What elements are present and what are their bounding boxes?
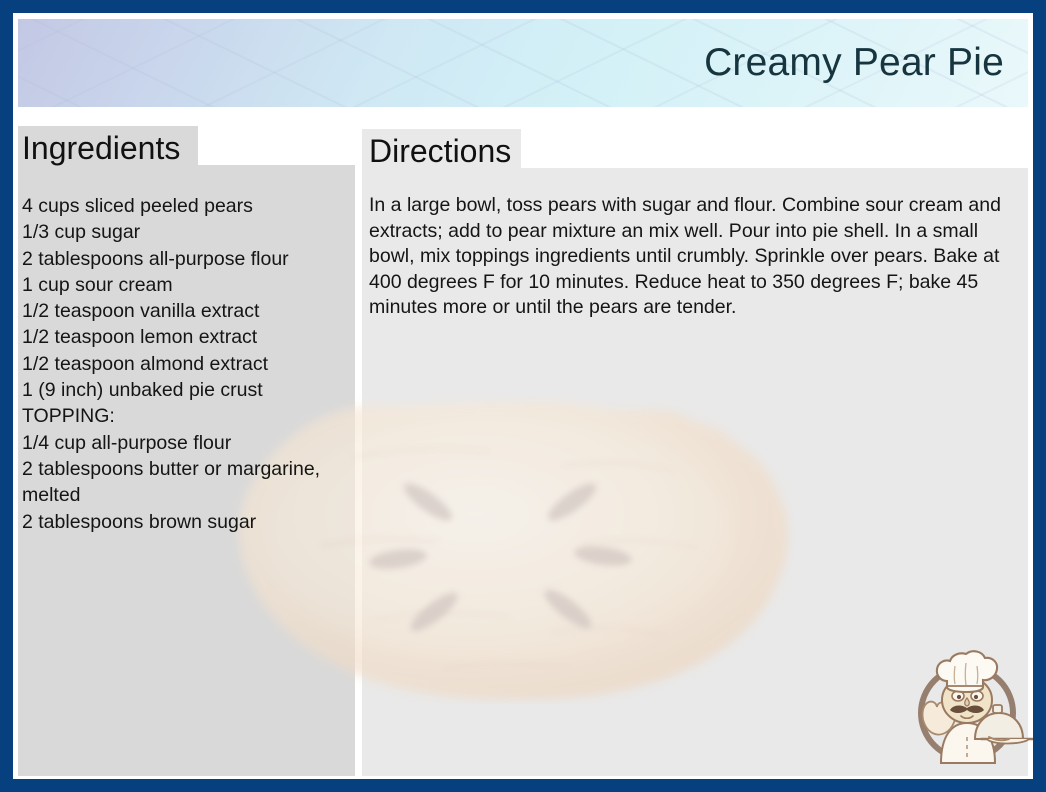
list-item: 2 tablespoons brown sugar xyxy=(22,509,352,535)
ingredients-heading: Ingredients xyxy=(22,130,180,167)
list-item: 1/2 teaspoon lemon extract xyxy=(22,324,352,350)
page-title: Creamy Pear Pie xyxy=(704,41,1004,85)
list-item: 1/3 cup sugar xyxy=(22,219,352,245)
list-item: TOPPING: xyxy=(22,403,352,429)
list-item: 1 (9 inch) unbaked pie crust xyxy=(22,377,352,403)
list-item: 1/4 cup all-purpose flour xyxy=(22,430,352,456)
list-item: 1/2 teaspoon vanilla extract xyxy=(22,298,352,324)
recipe-card-page: Creamy Pear Pie Ingredients 4 cups slice… xyxy=(0,0,1046,792)
list-item: 4 cups sliced peeled pears xyxy=(22,193,352,219)
chef-logo xyxy=(911,645,1033,771)
list-item: 2 tablespoons butter or margarine, melte… xyxy=(22,456,352,509)
ingredients-list: 4 cups sliced peeled pears 1/3 cup sugar… xyxy=(22,193,352,535)
page-border-right xyxy=(1033,0,1046,792)
page-border-left xyxy=(0,0,13,792)
page-border-top xyxy=(0,0,1046,13)
list-item: 2 tablespoons all-purpose flour xyxy=(22,246,352,272)
header-banner: Creamy Pear Pie xyxy=(18,19,1028,107)
list-item: 1/2 teaspoon almond extract xyxy=(22,351,352,377)
page-border-bottom xyxy=(0,779,1046,792)
directions-body: In a large bowl, toss pears with sugar a… xyxy=(369,193,1009,321)
directions-heading: Directions xyxy=(369,133,511,170)
list-item: 1 cup sour cream xyxy=(22,272,352,298)
